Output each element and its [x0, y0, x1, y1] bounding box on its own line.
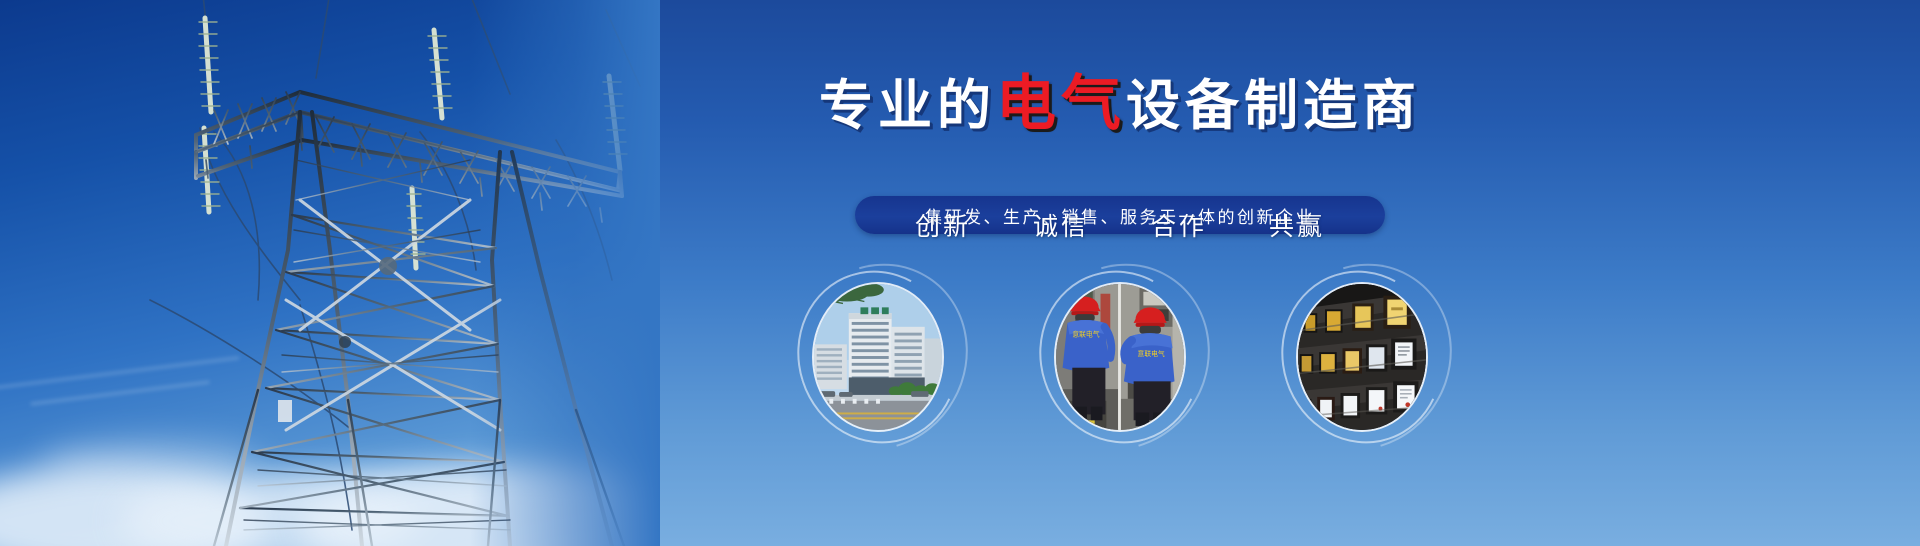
photo-circle-row: 意联电气 [660, 282, 1580, 432]
hero-banner: 专业的电气设备制造商 集研发、生产、销售、服务于一体的创新企业 创新 诚信 合作… [0, 0, 1920, 546]
keyword-row: 创新 诚信 合作 共赢 [660, 207, 1580, 243]
headline-part-2: 设备制造商 [1126, 76, 1421, 136]
office-building-photo [812, 282, 944, 432]
headline: 专业的电气设备制造商 [660, 74, 1580, 134]
keyword-winwin: 共赢 [1269, 207, 1325, 243]
technicians-photo: 意联电气 [1054, 282, 1186, 432]
transmission-tower-photo [0, 0, 660, 546]
banner-content: 专业的电气设备制造商 集研发、生产、销售、服务于一体的创新企业 创新 诚信 合作… [660, 0, 1920, 546]
svg-text:意联电气: 意联电气 [1072, 330, 1099, 339]
headline-highlight: 电气 [996, 70, 1126, 137]
keyword-integrity: 诚信 [1033, 207, 1089, 243]
photo-circle-certificates [1296, 282, 1428, 432]
photo-circle-office [812, 282, 944, 432]
photo-circle-technicians: 意联电气 [1054, 282, 1186, 432]
keyword-innovation: 创新 [915, 207, 971, 243]
headline-part-1: 专业的 [819, 76, 996, 136]
svg-text:意联电气: 意联电气 [1138, 349, 1165, 358]
keyword-cooperation: 合作 [1151, 207, 1207, 243]
certificate-wall-photo [1296, 282, 1428, 432]
photo-edge-fade [470, 0, 660, 546]
